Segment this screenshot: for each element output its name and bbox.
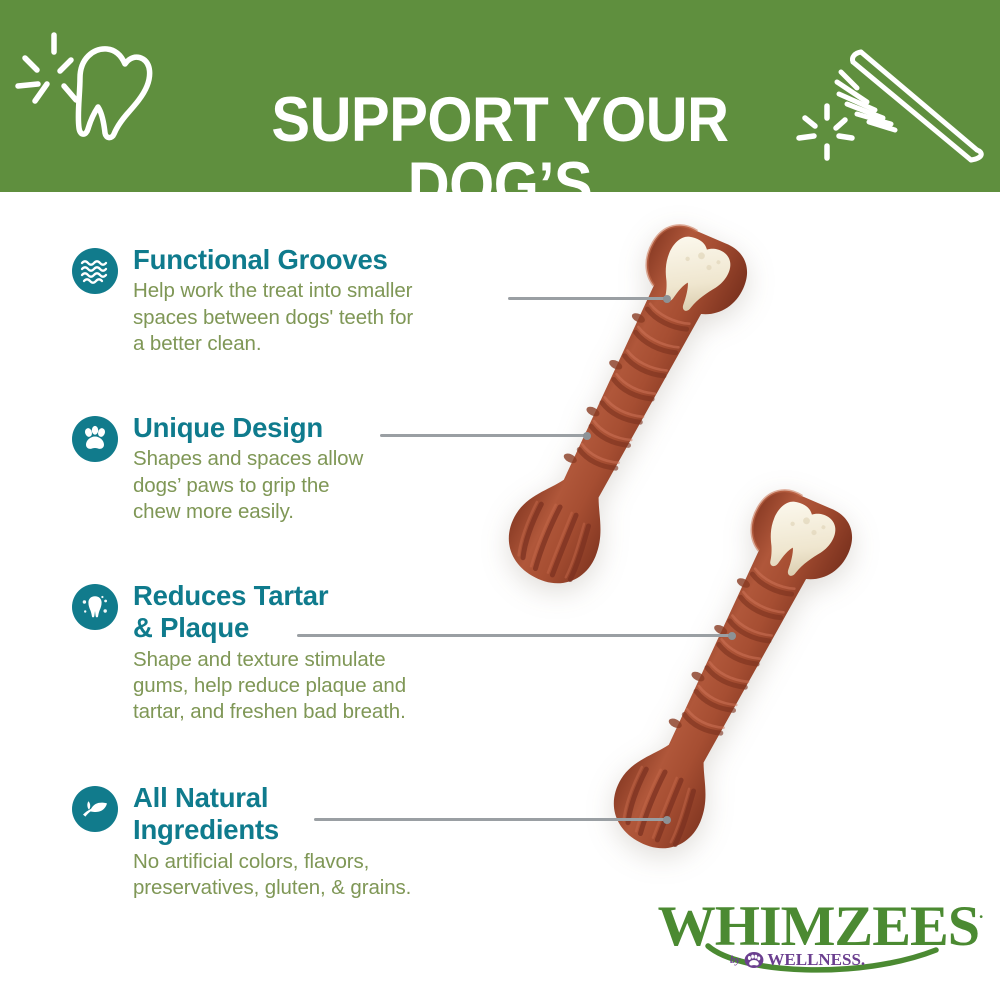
feature-description: No artificial colors, flavors, preservat… (133, 849, 503, 901)
connector-endpoint-dot (663, 816, 671, 824)
whimzees-toothbrush-chew-lower (575, 470, 905, 890)
feature-description: Shapes and spaces allow dogs’ paws to gr… (133, 446, 503, 525)
connector-line-functional-grooves (508, 297, 668, 300)
registered-mark: . (979, 903, 982, 922)
parent-brand-name: WELLNESS. (767, 950, 865, 970)
tooth-sparkle-icon (14, 28, 154, 163)
paw-print-icon (72, 416, 118, 462)
page-title: SUPPORT YOUR DOG’S ORAL HEALTH (178, 23, 822, 192)
feature-text-block: All Natural Ingredients No artificial co… (133, 782, 503, 901)
toothbrush-icon (795, 38, 990, 183)
feature-description: Shape and texture stimulate gums, help r… (133, 647, 503, 726)
feature-title: Reduces Tartar & Plaque (133, 580, 503, 645)
header-banner: SUPPORT YOUR DOG’S ORAL HEALTH (0, 0, 1000, 192)
whimzees-logo: WHIMZEES. by WELLNESS. (660, 898, 980, 990)
parent-brand-lockup: by WELLNESS. (730, 950, 865, 970)
feature-title: All Natural Ingredients (133, 782, 503, 847)
grooves-waves-icon (72, 248, 118, 294)
sparkling-tooth-icon (72, 584, 118, 630)
feature-text-block: Unique Design Shapes and spaces allow do… (133, 412, 503, 525)
connector-endpoint-dot (728, 632, 736, 640)
feature-title: Unique Design (133, 412, 503, 444)
by-label: by (730, 954, 740, 966)
connector-endpoint-dot (663, 295, 671, 303)
leaf-sprout-icon (72, 786, 118, 832)
feature-text-block: Reduces Tartar & Plaque Shape and textur… (133, 580, 503, 726)
wellness-paw-icon (743, 951, 765, 969)
feature-description: Help work the treat into smaller spaces … (133, 278, 503, 357)
feature-title: Functional Grooves (133, 244, 503, 276)
oral-health-infographic: SUPPORT YOUR DOG’S ORAL HEALTH (0, 0, 1000, 1006)
header-title-text: SUPPORT YOUR DOG’S ORAL HEALTH (271, 85, 728, 192)
feature-text-block: Functional Grooves Help work the treat i… (133, 244, 503, 357)
connector-endpoint-dot (583, 432, 591, 440)
